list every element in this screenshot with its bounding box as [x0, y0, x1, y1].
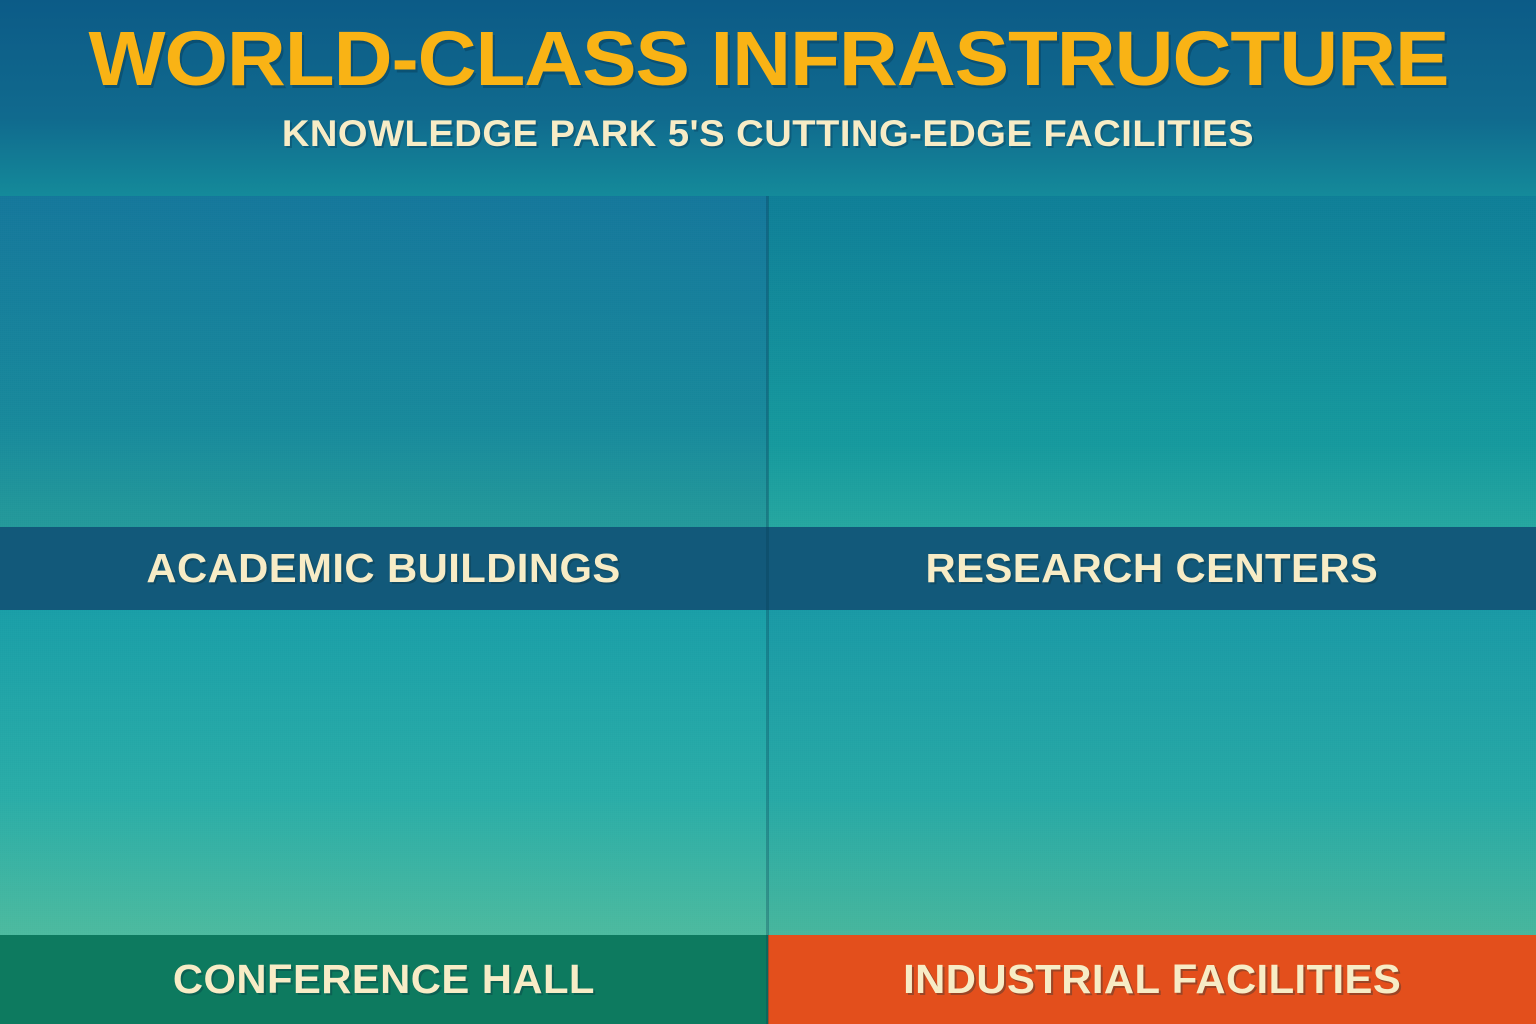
- page-subtitle: KNOWLEDGE PARK 5'S CUTTING-EDGE FACILITI…: [282, 113, 1254, 155]
- caption-bar-research: RESEARCH CENTERS: [768, 527, 1536, 610]
- caption-label-academic: ACADEMIC BUILDINGS: [147, 545, 621, 592]
- caption-bar-academic: ACADEMIC BUILDINGS: [0, 527, 768, 610]
- panel-divider-vertical: [766, 196, 769, 1024]
- panel-grid: ACADEMIC BUILDINGS: [0, 196, 1536, 1024]
- caption-bar-industrial: INDUSTRIAL FACILITIES: [768, 935, 1536, 1024]
- caption-label-research: RESEARCH CENTERS: [926, 545, 1379, 592]
- panel-industrial-facilities[interactable]: INDUSTRIAL FACILITIES: [768, 610, 1536, 1024]
- infographic-poster: WORLD-CLASS INFRASTRUCTURE KNOWLEDGE PAR…: [0, 0, 1536, 1024]
- page-title: WORLD-CLASS INFRASTRUCTURE: [88, 22, 1448, 97]
- caption-label-industrial: INDUSTRIAL FACILITIES: [903, 956, 1401, 1003]
- poster-header: WORLD-CLASS INFRASTRUCTURE KNOWLEDGE PAR…: [0, 0, 1536, 196]
- panel-research-centers[interactable]: RESEARCH CENTERS: [768, 196, 1536, 610]
- panel-academic-buildings[interactable]: ACADEMIC BUILDINGS: [0, 196, 768, 610]
- panel-conference-hall[interactable]: CONFERENCE HALL: [0, 610, 768, 1024]
- caption-label-conference: CONFERENCE HALL: [173, 956, 595, 1003]
- caption-bar-conference: CONFERENCE HALL: [0, 935, 768, 1024]
